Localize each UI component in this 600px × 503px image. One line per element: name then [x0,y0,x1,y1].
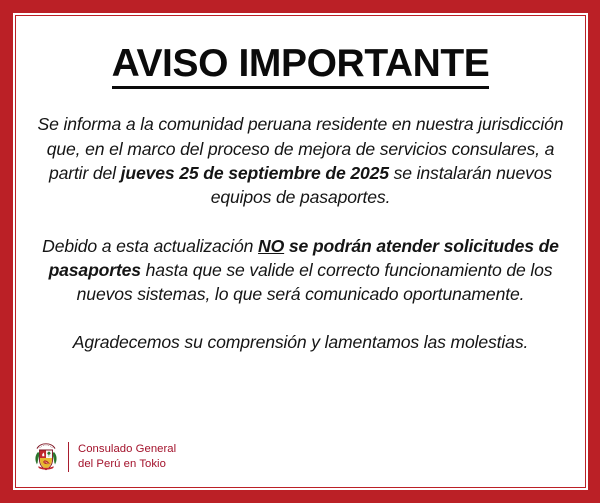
peru-coat-of-arms-icon [32,440,60,473]
page-title: AVISO IMPORTANTE [26,16,575,89]
p2-run-2-negation: NO [258,236,284,256]
p2-run-4: hasta que se valide el correcto funciona… [77,260,553,304]
notice-card: AVISO IMPORTANTE Se informa a la comunid… [0,0,600,503]
notice-paragraph-1: Se informa a la comunidad peruana reside… [26,112,575,209]
notice-paragraph-2: Debido a esta actualización NO se podrán… [26,234,575,307]
footer-logo-lockup: Consulado General del Perú en Tokio [32,440,176,473]
footer-organization-name: Consulado General del Perú en Tokio [78,442,176,471]
p2-run-1: Debido a esta actualización [42,236,258,256]
notice-inner-rule: AVISO IMPORTANTE Se informa a la comunid… [15,15,586,488]
footer-divider [68,442,69,472]
page-title-text: AVISO IMPORTANTE [112,43,490,89]
footer-line-2: del Perú en Tokio [78,457,176,472]
footer-line-1: Consulado General [78,442,176,457]
p1-run-2-date: jueves 25 de septiembre de 2025 [121,163,389,183]
notice-paragraph-3: Agradecemos su comprensión y lamentamos … [26,330,575,354]
notice-content: AVISO IMPORTANTE Se informa a la comunid… [16,16,585,487]
notice-paragraphs: Se informa a la comunidad peruana reside… [26,89,575,354]
p3-run-1: Agradecemos su comprensión y lamentamos … [73,332,528,352]
notice-frame-gap: AVISO IMPORTANTE Se informa a la comunid… [13,13,588,490]
